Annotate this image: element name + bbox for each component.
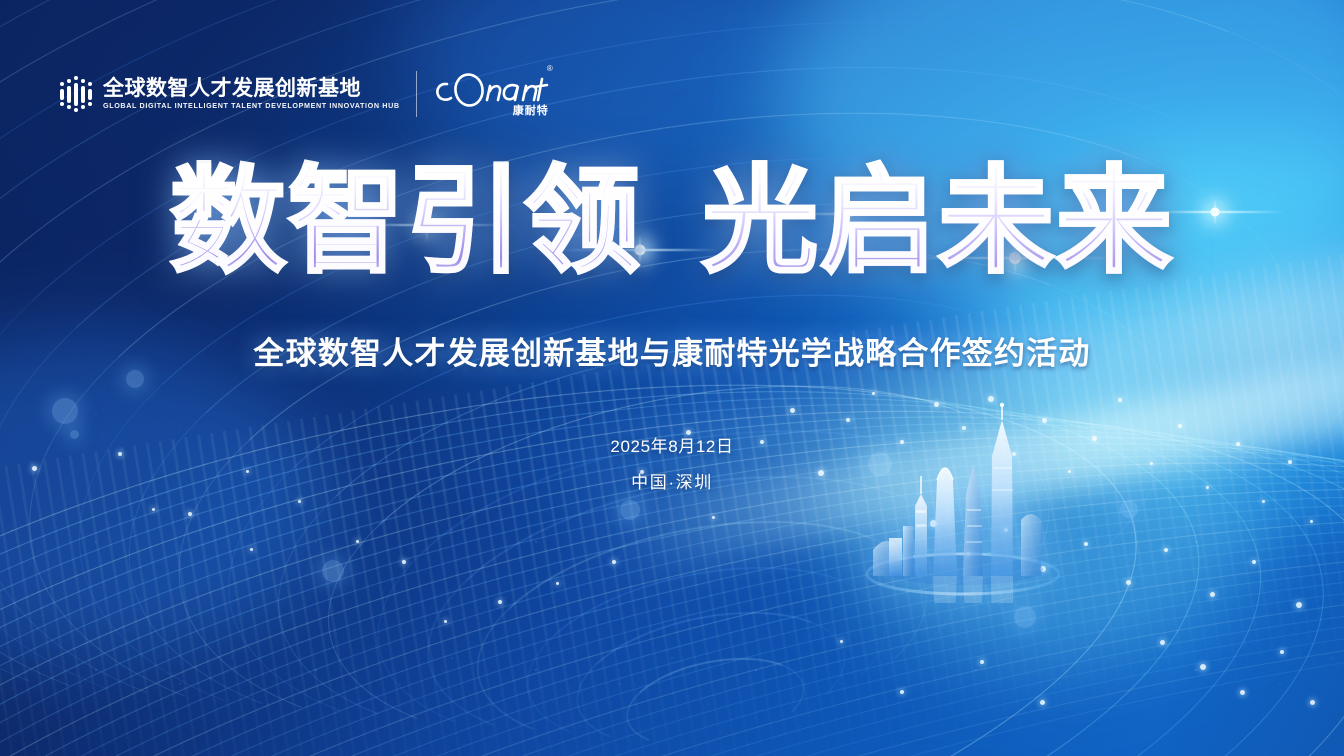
bokeh-particle	[1040, 700, 1045, 705]
city-skyline-illustration	[845, 398, 1075, 603]
bokeh-particle	[1280, 650, 1284, 654]
bokeh-particle	[840, 640, 843, 643]
bokeh-particle	[900, 690, 904, 694]
bokeh-particle	[620, 500, 640, 520]
bokeh-particle	[712, 516, 715, 519]
bokeh-particle	[1160, 640, 1165, 645]
bokeh-particle	[152, 508, 155, 511]
bokeh-particle	[250, 548, 253, 551]
bokeh-particle	[1262, 500, 1265, 503]
title-segment-2: 光启未来	[702, 154, 1174, 289]
dot-matrix-logo-icon	[60, 74, 92, 114]
bokeh-particle	[1252, 560, 1256, 564]
hero-subtitle: 全球数智人才发展创新基地与康耐特光学战略合作签约活动	[0, 328, 1344, 373]
bokeh-particle	[356, 540, 359, 543]
title-segment-1: 数智引领	[170, 154, 642, 289]
conant-wordmark: ®	[433, 70, 551, 106]
event-key-visual: 全球数智人才发展创新基地 GLOBAL DIGITAL INTELLIGENT …	[0, 0, 1344, 756]
bokeh-particle	[1126, 580, 1131, 585]
bokeh-particle	[52, 398, 78, 424]
event-date: 2025年8月12日	[0, 432, 1344, 457]
bokeh-particle	[1296, 602, 1302, 608]
logo-lockup: 全球数智人才发展创新基地 GLOBAL DIGITAL INTELLIGENT …	[60, 66, 555, 122]
conant-logo: ® 康耐特	[433, 70, 555, 118]
bokeh-particle	[498, 600, 502, 604]
bokeh-particle	[1310, 700, 1315, 705]
bokeh-particle	[1164, 548, 1168, 552]
bokeh-particle	[188, 512, 192, 516]
hub-logo: 全球数智人才发展创新基地 GLOBAL DIGITAL INTELLIGENT …	[60, 74, 400, 114]
event-meta-block: 2025年8月12日 中国·深圳	[0, 432, 1344, 493]
bokeh-particle	[444, 620, 447, 623]
bokeh-particle	[1014, 606, 1036, 628]
bokeh-particle	[1084, 542, 1088, 546]
bokeh-particle	[402, 560, 406, 564]
bokeh-particle	[1178, 424, 1182, 428]
bokeh-particle	[980, 660, 984, 664]
registered-mark-icon: ®	[547, 64, 553, 73]
bokeh-particle	[790, 408, 795, 413]
bokeh-particle	[1210, 592, 1215, 597]
bokeh-particle	[1240, 690, 1245, 695]
bokeh-particle	[1200, 664, 1206, 670]
bokeh-particle	[1120, 500, 1138, 518]
bokeh-particle	[1310, 520, 1313, 523]
bokeh-particle	[1118, 398, 1122, 402]
logo-divider	[416, 71, 417, 117]
bokeh-particle	[322, 560, 344, 582]
event-location: 中国·深圳	[0, 468, 1344, 493]
bokeh-particle	[612, 560, 616, 564]
hub-name-cn: 全球数智人才发展创新基地	[103, 78, 400, 99]
bokeh-particle	[556, 582, 559, 585]
hero-title-block: 数智引领光启未来	[0, 163, 1344, 281]
hub-name-en: GLOBAL DIGITAL INTELLIGENT TALENT DEVELO…	[103, 102, 400, 109]
bokeh-particle	[298, 500, 301, 503]
main-title: 数智引领光启未来	[170, 163, 1174, 281]
bokeh-particle	[872, 392, 875, 395]
